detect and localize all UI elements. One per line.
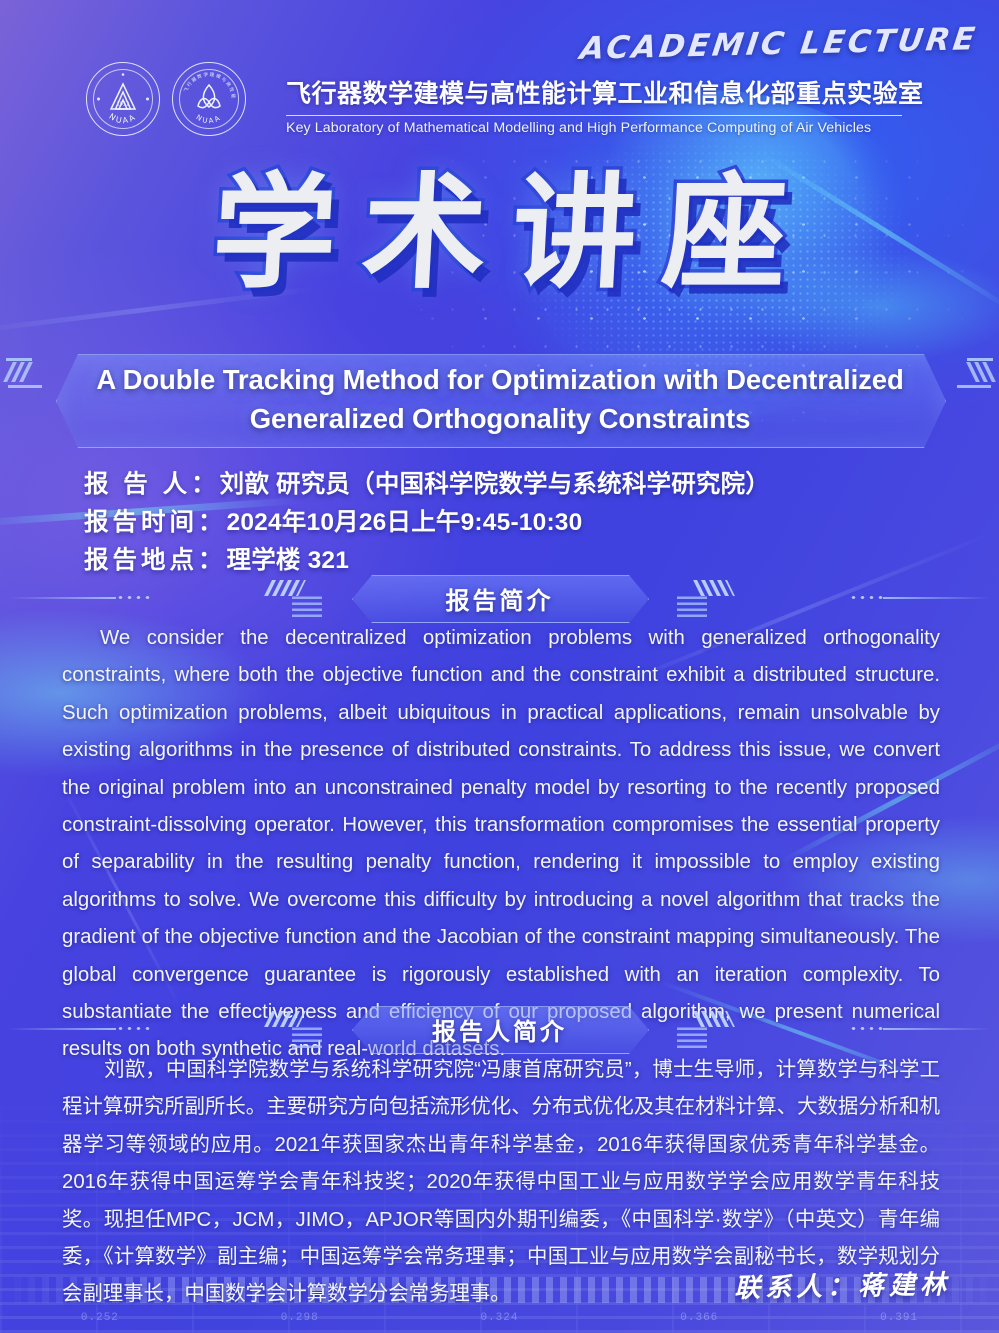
- contact-person: 联系人：蒋建林: [734, 1264, 952, 1305]
- svg-text:1952: 1952: [117, 102, 130, 108]
- paper-title-text: A Double Tracking Method for Optimizatio…: [60, 360, 940, 438]
- lecture-poster: 0.252 0.298 0.324 0.366 0.391 ACADEMIC L…: [0, 0, 999, 1333]
- time-label: 报告时间：: [84, 509, 227, 536]
- poster-header: ACADEMIC LECTURE 1952 NUAA: [0, 0, 999, 156]
- svg-text:NUAA: NUAA: [107, 112, 138, 126]
- svg-text:飞行器数学建模与高性能计算重点实验室: 飞行器数学建模与高性能计算重点实验室: [172, 62, 237, 100]
- abstract-heading: 报告简介: [352, 575, 647, 621]
- banner-wing-right: [659, 1010, 869, 1048]
- speaker-info-block: 报 告 人：刘歆 研究员（中国科学院数学与系统科学研究院） 报告时间：2024年…: [84, 468, 944, 582]
- abstract-body: We consider the decentralized optimizati…: [62, 620, 940, 1069]
- logo-group: 1952 NUAA: [86, 62, 246, 136]
- svg-text:NUAA: NUAA: [195, 113, 223, 125]
- lab-divider-rule: [286, 115, 902, 116]
- nuaa-lab-logo: 飞行器数学建模与高性能计算重点实验室 NUAA: [172, 62, 246, 136]
- banner-decoration-right-icon: [941, 358, 993, 442]
- speaker-value: 刘歆 研究员（中国科学院数学与系统科学研究院）: [220, 471, 770, 498]
- time-value: 2024年10月26日上午9:45-10:30: [227, 509, 583, 536]
- place-row: 报告地点：理学楼 321: [84, 544, 944, 577]
- place-label: 报告地点：: [84, 547, 227, 574]
- lab-name-chinese: 飞行器数学建模与高性能计算工业和信息化部重点实验室: [286, 74, 902, 110]
- speaker-label: 报 告 人：: [84, 471, 220, 498]
- bio-section-banner: 报告人简介: [0, 1006, 999, 1052]
- banner-line-right: [883, 597, 991, 599]
- nuaa-university-logo: 1952 NUAA: [86, 62, 160, 136]
- time-row: 报告时间：2024年10月26日上午9:45-10:30: [84, 506, 944, 539]
- place-value: 理学楼 321: [227, 547, 350, 574]
- lab-name-english: Key Laboratory of Mathematical Modelling…: [286, 120, 902, 136]
- banner-dots-right-icon: [849, 594, 883, 601]
- lab-title-block: 飞行器数学建模与高性能计算工业和信息化部重点实验室 Key Laboratory…: [286, 74, 902, 136]
- banner-line-left: [8, 597, 116, 599]
- abstract-body-text: We consider the decentralized optimizati…: [62, 627, 940, 1060]
- banner-decoration-left-icon: [6, 358, 58, 442]
- page-title: 学术讲座: [0, 168, 999, 300]
- banner-dots-right-icon: [849, 1025, 883, 1032]
- banner-steps-left-icon: [292, 1026, 322, 1048]
- abstract-section-banner: 报告简介: [0, 575, 999, 621]
- banner-steps-left-icon: [292, 595, 322, 617]
- banner-line-right: [883, 1028, 991, 1030]
- banner-wing-right: [659, 579, 869, 617]
- academic-lecture-kicker: ACADEMIC LECTURE: [578, 21, 980, 67]
- bio-heading: 报告人简介: [352, 1006, 647, 1052]
- paper-title-banner: A Double Tracking Method for Optimizatio…: [0, 352, 999, 450]
- banner-line-left: [8, 1028, 116, 1030]
- speaker-row: 报 告 人：刘歆 研究员（中国科学院数学与系统科学研究院）: [84, 468, 944, 501]
